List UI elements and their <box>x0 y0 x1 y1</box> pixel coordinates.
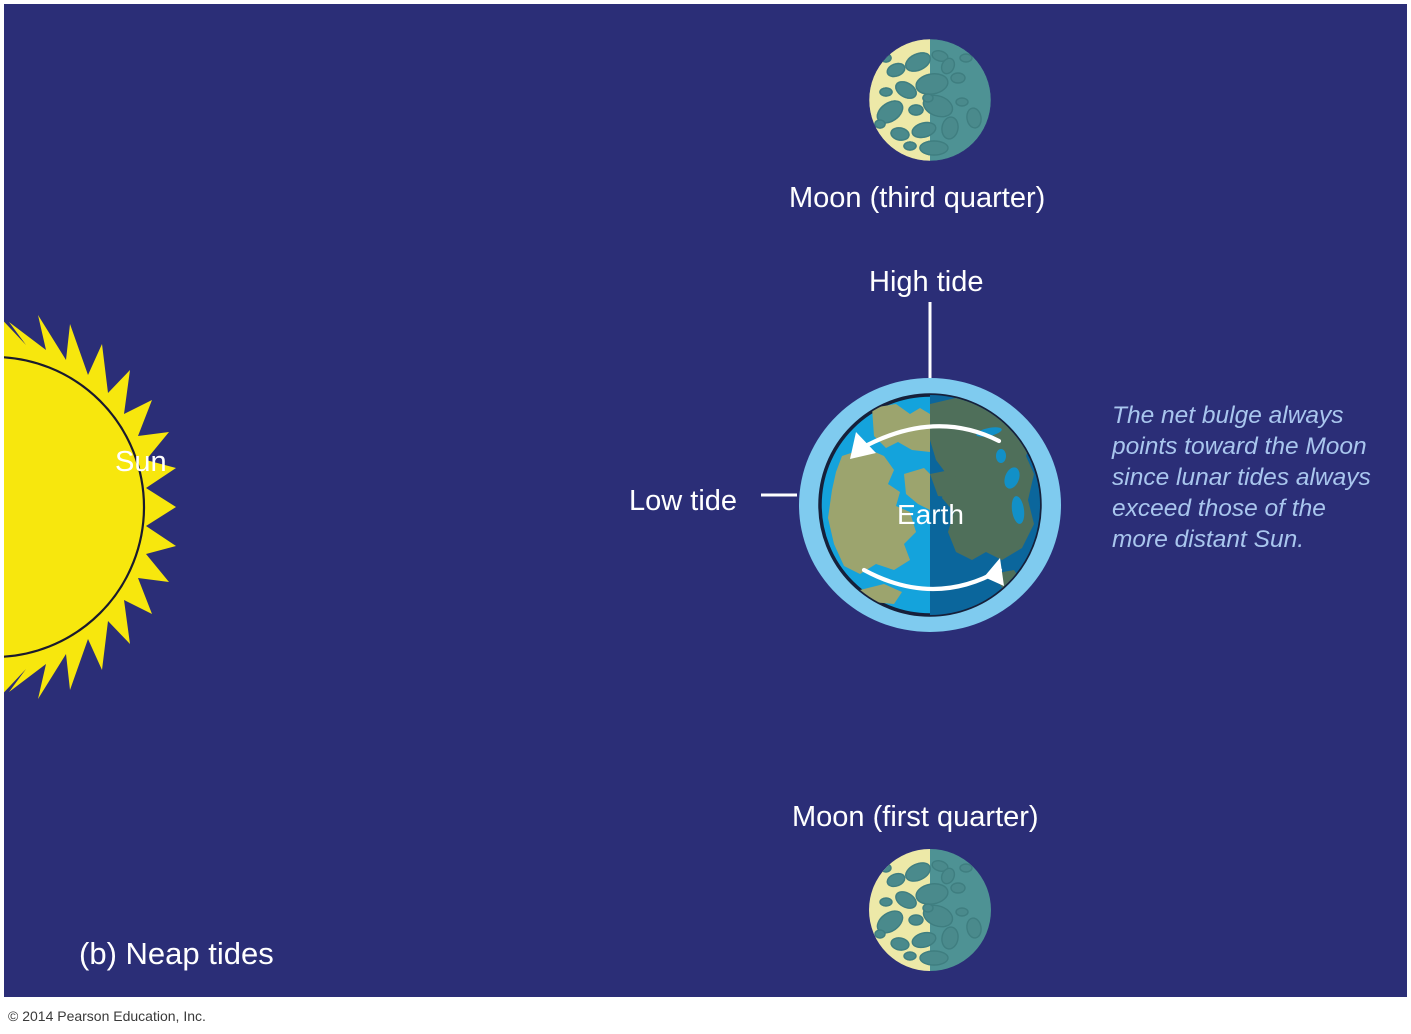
high-tide-label: High tide <box>869 266 983 299</box>
moon-third-quarter-label: Moon (third quarter) <box>789 182 1045 215</box>
sun-graphic <box>4 311 176 703</box>
diagram-panel: Moon (third quarter) High tide Low tide … <box>4 4 1407 997</box>
figure-caption: (b) Neap tides <box>79 936 274 972</box>
copyright-notice: © 2014 Pearson Education, Inc. <box>8 1008 206 1024</box>
low-tide-label: Low tide <box>629 485 737 518</box>
neap-tides-figure: Moon (third quarter) High tide Low tide … <box>0 0 1411 1034</box>
moon-first-quarter-label: Moon (first quarter) <box>792 801 1039 834</box>
moon-first-quarter-graphic <box>869 849 992 971</box>
sun-label: Sun <box>115 446 167 479</box>
earth-label: Earth <box>897 499 964 531</box>
net-bulge-annotation: The net bulge always points toward the M… <box>1112 400 1380 555</box>
moon-third-quarter-graphic <box>869 39 992 161</box>
